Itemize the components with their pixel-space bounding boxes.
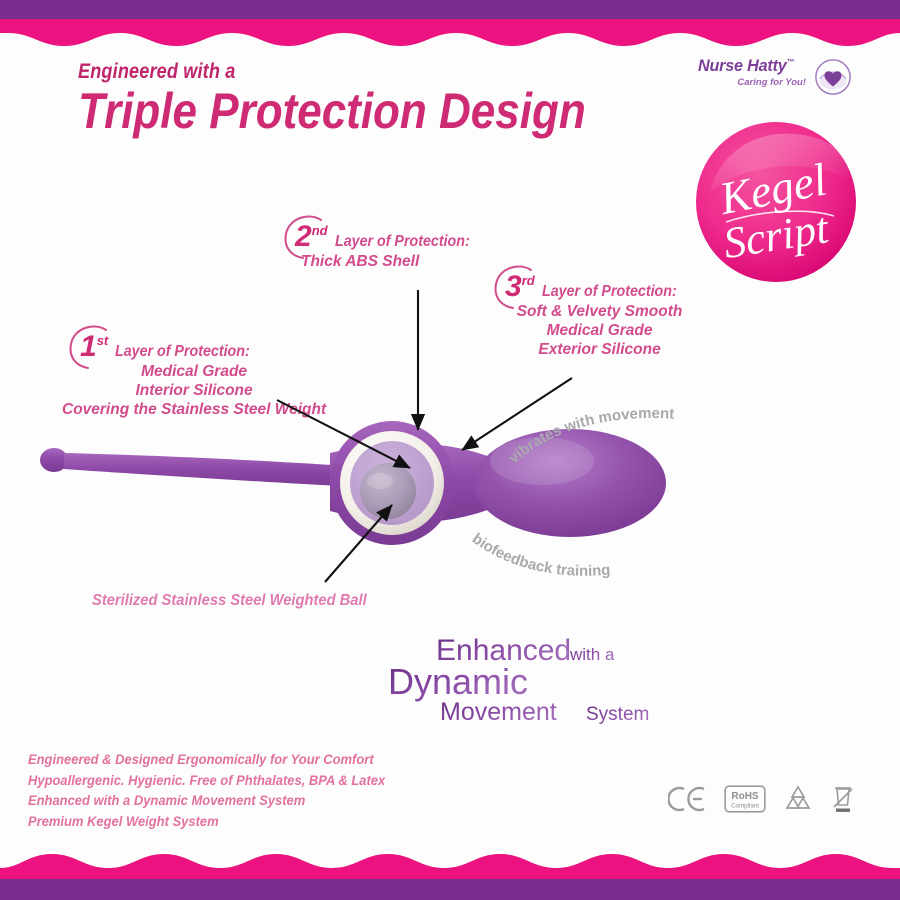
callout-2-suffix: nd — [312, 223, 328, 238]
feature-item: Premium Kegel Weight System — [28, 812, 385, 833]
feature-list: Engineered & Designed Ergonomically for … — [28, 750, 400, 832]
callout-3-line-1: Soft & Velvety Smooth — [511, 303, 688, 322]
infographic-canvas: Engineered with a Triple Protection Desi… — [0, 0, 900, 900]
callout-3-number: 3 — [505, 270, 522, 303]
callout-2-ordinal: 2nd — [295, 222, 328, 252]
feature-item: Engineered & Designed Ergonomically for … — [28, 750, 385, 771]
callout-1-line-1: Medical Grade — [62, 363, 326, 382]
trademark-symbol: ™ — [787, 57, 794, 66]
weee-crossed-bin-icon — [830, 783, 856, 815]
rohs-label: RoHS — [731, 791, 759, 802]
rohs-sublabel: Compliant — [731, 803, 759, 810]
callout-2-number: 2 — [295, 220, 312, 253]
callout-1-ordinal: 1st — [80, 332, 108, 362]
ce-mark-icon — [668, 786, 708, 812]
callout-1-lead: Layer of Protection: — [115, 343, 250, 361]
kegel-script-badge: Kegel Script — [692, 118, 860, 286]
callout-3-ordinal: 3rd — [505, 272, 535, 302]
callout-3-suffix: rd — [522, 273, 535, 288]
top-wave-border — [0, 0, 900, 50]
callout-layer-2: 2nd Layer of Protection: Thick ABS Shell — [295, 222, 481, 272]
heart-in-hands-icon — [814, 58, 852, 96]
brand-tagline: Caring for You! — [698, 77, 806, 88]
recycle-icon — [782, 784, 814, 814]
callout-2-lead: Layer of Protection: — [335, 233, 470, 251]
page-title: Engineered with a Triple Protection Desi… — [78, 60, 655, 138]
dynamic-movement-heading: Enhanced with a Dynamic Movement System — [388, 632, 688, 727]
dynamic-line1-small: with a — [569, 645, 615, 664]
product-illustration — [30, 395, 710, 585]
feature-item: Enhanced with a Dynamic Movement System — [28, 791, 385, 812]
feature-item: Hypoallergenic. Hygienic. Free of Phthal… — [28, 771, 385, 792]
dynamic-line3-big: Movement — [440, 698, 557, 726]
callout-layer-3: 3rd Layer of Protection: Soft & Velvety … — [505, 272, 688, 360]
callout-3-lines: Soft & Velvety Smooth Medical Grade Exte… — [511, 303, 688, 360]
callout-2-line-1: Thick ABS Shell — [301, 253, 481, 272]
ball-label: Sterilized Stainless Steel Weighted Ball — [92, 592, 367, 610]
callout-1-number: 1 — [80, 330, 97, 363]
callout-3-line-3: Exterior Silicone — [511, 341, 688, 360]
rohs-compliant-icon: RoHS Compliant — [724, 785, 766, 813]
brand-name-text: Nurse Hatty — [698, 56, 787, 75]
title-eyebrow: Engineered with a — [78, 60, 574, 84]
bottom-wave-border — [0, 838, 900, 900]
dynamic-line2: Dynamic — [388, 661, 528, 702]
callout-1-suffix: st — [97, 333, 109, 348]
callout-3-lead: Layer of Protection: — [542, 283, 677, 301]
brand-logo: Nurse Hatty™ Caring for You! — [698, 56, 848, 102]
certification-marks: RoHS Compliant — [668, 778, 874, 820]
dynamic-line3-small: System — [586, 704, 649, 725]
title-main: Triple Protection Design — [78, 85, 586, 138]
callout-2-lines: Thick ABS Shell — [301, 253, 481, 272]
callout-3-line-2: Medical Grade — [511, 322, 688, 341]
